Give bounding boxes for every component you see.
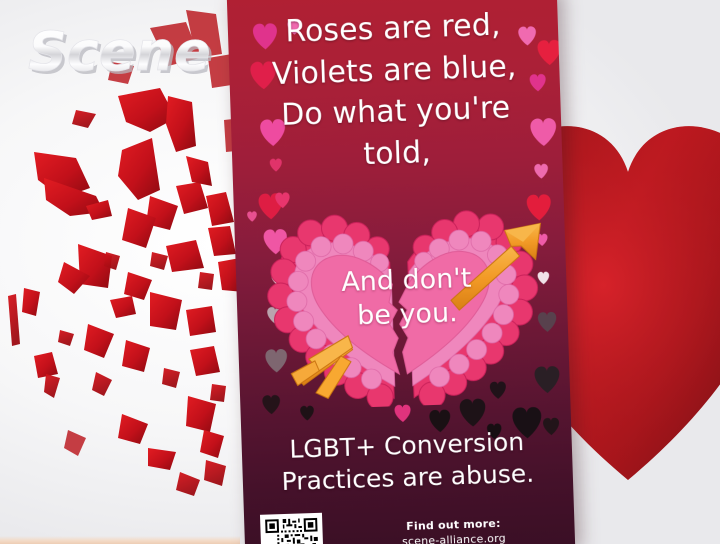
qr-code[interactable] (260, 513, 324, 544)
poster-scene: Scene Scene (0, 0, 720, 544)
scene-logo: Scene Scene (24, 16, 254, 90)
floor-strip (0, 536, 240, 544)
poster-tagline: LGBT+ Conversion Practices are abuse. (247, 425, 567, 500)
poster-verse: Roses are red, Violets are blue, Do what… (227, 3, 562, 181)
broken-heart-with-arrow-graphic (252, 201, 554, 411)
valentine-poster: Roses are red, Violets are blue, Do what… (227, 0, 575, 544)
scene-logo-text: Scene (28, 20, 211, 83)
